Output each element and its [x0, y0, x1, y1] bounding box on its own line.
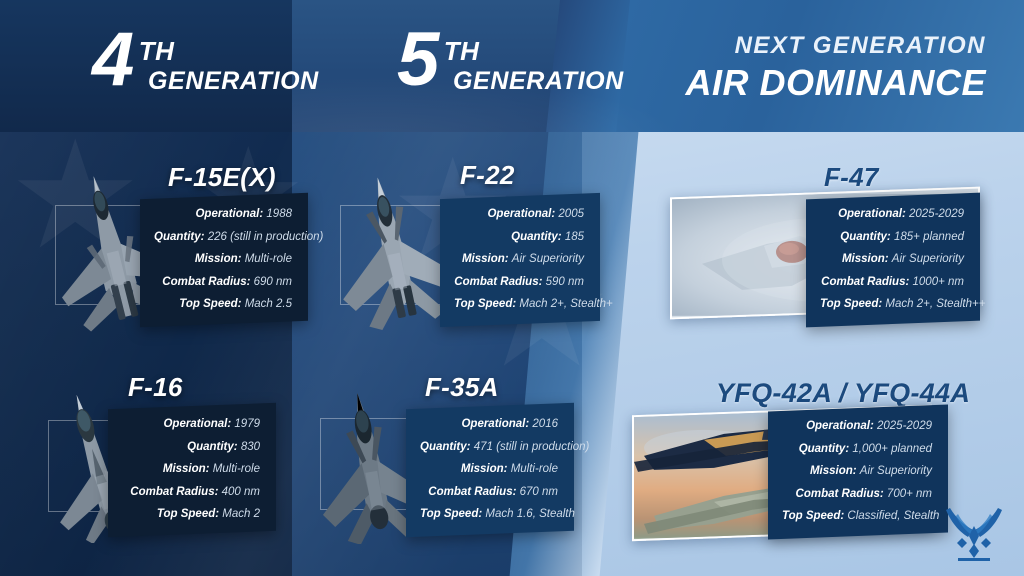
f47-row-top-speed: Top Speed: Mach 2+, Stealth++: [820, 299, 964, 311]
value-mission: Multi-role: [511, 463, 558, 475]
f15ex-row-quantity: Quantity: 226 (still in production): [154, 232, 292, 244]
f22-row-quantity: Quantity: 185: [454, 232, 584, 244]
f35a-row-combat-radius: Combat Radius: 670 nm: [420, 487, 558, 499]
f16-spec-card: Operational: 1979 Quantity: 830 Mission:…: [108, 403, 276, 537]
value-quantity: 1,000+ planned: [852, 443, 932, 455]
f15ex-row-top-speed: Top Speed: Mach 2.5: [154, 299, 292, 311]
label-top-speed: Top Speed:: [420, 508, 482, 520]
yfq-spec-card: Operational: 2025-2029 Quantity: 1,000+ …: [768, 405, 948, 539]
value-combat-radius: 400 nm: [222, 486, 260, 498]
label-quantity: Quantity:: [511, 231, 561, 243]
value-operational: 1979: [234, 418, 260, 430]
value-operational: 2016: [532, 418, 558, 430]
label-quantity: Quantity:: [420, 441, 470, 453]
generation-4-number: 4: [92, 30, 135, 91]
label-operational: Operational:: [163, 418, 231, 430]
value-top-speed: Mach 2+, Stealth+: [519, 298, 612, 310]
value-combat-radius: 690 nm: [254, 276, 292, 288]
label-operational: Operational:: [806, 420, 874, 432]
label-top-speed: Top Speed:: [820, 298, 882, 310]
f35a-spec-card: Operational: 2016 Quantity: 471 (still i…: [406, 403, 574, 537]
value-top-speed: Mach 2.5: [245, 298, 292, 310]
ngad-title-line2: AIR DOMINANCE: [686, 62, 987, 104]
header-band: 4 TH GENERATION 5 TH GENERATION NEXT GEN…: [0, 0, 1024, 132]
generation-5-ordinal: TH: [444, 36, 480, 67]
f16-row-top-speed: Top Speed: Mach 2: [122, 509, 260, 520]
f22-row-operational: Operational: 2005: [454, 209, 584, 221]
value-quantity: 185+ planned: [894, 231, 964, 243]
label-mission: Mission:: [195, 253, 242, 265]
value-combat-radius: 590 nm: [546, 276, 584, 288]
label-quantity: Quantity:: [799, 443, 849, 455]
label-top-speed: Top Speed:: [157, 508, 219, 520]
f16-row-combat-radius: Combat Radius: 400 nm: [122, 487, 260, 499]
yfq-row-operational: Operational: 2025-2029: [782, 421, 932, 433]
label-top-speed: Top Speed:: [782, 510, 844, 522]
f15ex-row-combat-radius: Combat Radius: 690 nm: [154, 277, 292, 289]
ngad-title: NEXT GENERATION AIR DOMINANCE: [686, 32, 987, 104]
yfq-row-combat-radius: Combat Radius: 700+ nm: [782, 489, 932, 501]
generation-4-title: 4 TH GENERATION: [92, 30, 319, 96]
yfq-row-quantity: Quantity: 1,000+ planned: [782, 444, 932, 456]
f15ex-row-mission: Mission: Multi-role: [154, 254, 292, 266]
value-quantity: 471 (still in production): [474, 441, 590, 453]
infographic-root: ★ ★ ★ ★ ★ ★ 4 TH GENERATION 5 TH GENERAT…: [0, 0, 1024, 576]
f47-title: F-47: [824, 162, 879, 193]
value-mission: Air Superiority: [892, 253, 964, 265]
label-operational: Operational:: [487, 208, 555, 220]
value-top-speed: Mach 2: [222, 508, 260, 520]
value-quantity: 830: [241, 441, 260, 453]
value-mission: Multi-role: [245, 253, 292, 265]
value-mission: Multi-role: [213, 463, 260, 475]
value-combat-radius: 670 nm: [520, 486, 558, 498]
f47-spec-card: Operational: 2025-2029 Quantity: 185+ pl…: [806, 193, 980, 327]
value-operational: 2025-2029: [909, 208, 964, 220]
f35a-row-mission: Mission: Multi-role: [420, 464, 558, 476]
f16-row-mission: Mission: Multi-role: [122, 464, 260, 476]
yfq-row-top-speed: Top Speed: Classified, Stealth: [782, 511, 932, 522]
f47-row-mission: Mission: Air Superiority: [820, 254, 964, 266]
f47-row-combat-radius: Combat Radius: 1000+ nm: [820, 277, 964, 289]
label-quantity: Quantity:: [187, 441, 237, 453]
f35a-row-operational: Operational: 2016: [420, 419, 558, 431]
f22-row-mission: Mission: Air Superiority: [454, 254, 584, 266]
generation-5-word: GENERATION: [453, 67, 624, 96]
label-combat-radius: Combat Radius:: [162, 276, 250, 288]
value-operational: 1988: [266, 208, 292, 220]
value-operational: 2025-2029: [877, 420, 932, 432]
generation-5-title: 5 TH GENERATION: [397, 30, 624, 96]
f22-row-combat-radius: Combat Radius: 590 nm: [454, 277, 584, 289]
value-top-speed: Mach 1.6, Stealth: [485, 508, 575, 520]
value-quantity: 185: [565, 231, 584, 243]
usaf-logo-icon: [942, 504, 1006, 562]
label-operational: Operational:: [461, 418, 529, 430]
f22-title: F-22: [460, 160, 515, 191]
f15ex-title: F-15E(X): [168, 162, 276, 193]
f47-row-operational: Operational: 2025-2029: [820, 209, 964, 221]
value-mission: Air Superiority: [860, 465, 932, 477]
label-top-speed: Top Speed:: [179, 298, 241, 310]
f47-row-quantity: Quantity: 185+ planned: [820, 232, 964, 244]
value-quantity: 226 (still in production): [208, 231, 324, 243]
value-combat-radius: 1000+ nm: [913, 276, 964, 288]
f16-row-operational: Operational: 1979: [122, 419, 260, 431]
label-combat-radius: Combat Radius:: [428, 486, 516, 498]
label-mission: Mission:: [810, 465, 857, 477]
label-combat-radius: Combat Radius:: [130, 486, 218, 498]
f35a-title: F-35A: [425, 372, 499, 403]
label-mission: Mission:: [461, 463, 508, 475]
f22-row-top-speed: Top Speed: Mach 2+, Stealth+: [454, 299, 584, 311]
yfq-row-mission: Mission: Air Superiority: [782, 466, 932, 478]
f15ex-row-operational: Operational: 1988: [154, 209, 292, 221]
value-top-speed: Classified, Stealth: [847, 510, 939, 522]
f35a-row-quantity: Quantity: 471 (still in production): [420, 442, 558, 454]
label-combat-radius: Combat Radius:: [821, 276, 909, 288]
f16-row-quantity: Quantity: 830: [122, 442, 260, 454]
value-mission: Air Superiority: [512, 253, 584, 265]
label-combat-radius: Combat Radius:: [796, 488, 884, 500]
label-combat-radius: Combat Radius:: [454, 276, 542, 288]
label-quantity: Quantity:: [154, 231, 204, 243]
label-mission: Mission:: [842, 253, 889, 265]
label-mission: Mission:: [163, 463, 210, 475]
f22-spec-card: Operational: 2005 Quantity: 185 Mission:…: [440, 193, 600, 327]
value-top-speed: Mach 2+, Stealth++: [885, 298, 985, 310]
label-operational: Operational:: [195, 208, 263, 220]
value-combat-radius: 700+ nm: [887, 488, 932, 500]
label-quantity: Quantity:: [840, 231, 890, 243]
label-operational: Operational:: [838, 208, 906, 220]
generation-5-number: 5: [397, 30, 440, 91]
ngad-title-line1: NEXT GENERATION: [686, 32, 987, 60]
f16-title: F-16: [128, 372, 183, 403]
label-mission: Mission:: [462, 253, 509, 265]
f15ex-spec-card: Operational: 1988 Quantity: 226 (still i…: [140, 193, 308, 327]
value-operational: 2005: [558, 208, 584, 220]
label-top-speed: Top Speed:: [454, 298, 516, 310]
f35a-row-top-speed: Top Speed: Mach 1.6, Stealth: [420, 509, 558, 520]
generation-4-ordinal: TH: [139, 36, 175, 67]
generation-4-word: GENERATION: [148, 67, 319, 96]
